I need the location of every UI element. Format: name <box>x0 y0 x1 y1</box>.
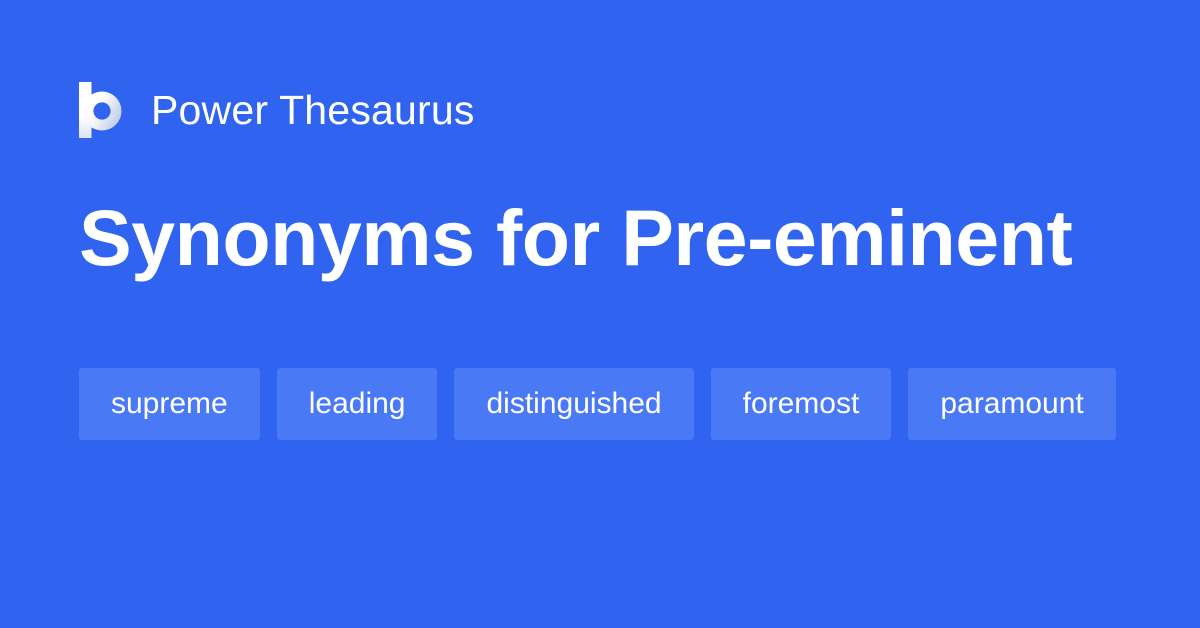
synonym-tag[interactable]: distinguished <box>454 368 693 440</box>
brand-lockup[interactable]: Power Thesaurus <box>79 79 475 141</box>
synonym-tag[interactable]: leading <box>277 368 438 440</box>
synonym-tag[interactable]: supreme <box>79 368 260 440</box>
page-title-prefix: Synonyms for <box>79 193 621 282</box>
synonym-tag-label: foremost <box>743 389 860 419</box>
og-card: Power Thesaurus Synonyms for Pre-eminent… <box>0 0 1200 628</box>
page-title: Synonyms for Pre-eminent <box>79 198 1139 279</box>
synonym-tag[interactable]: foremost <box>711 368 892 440</box>
synonym-tag-label: supreme <box>111 389 228 419</box>
synonym-tag-list: supreme leading distinguished foremost p… <box>79 368 1129 440</box>
page-title-term: Pre-eminent <box>621 193 1072 282</box>
synonym-tag-label: leading <box>309 389 406 419</box>
synonym-tag-label: distinguished <box>486 389 661 419</box>
brand-name: Power Thesaurus <box>151 90 475 131</box>
synonym-tag-label: paramount <box>940 389 1083 419</box>
power-thesaurus-b-logo-icon <box>79 82 123 138</box>
synonym-tag[interactable]: paramount <box>908 368 1115 440</box>
